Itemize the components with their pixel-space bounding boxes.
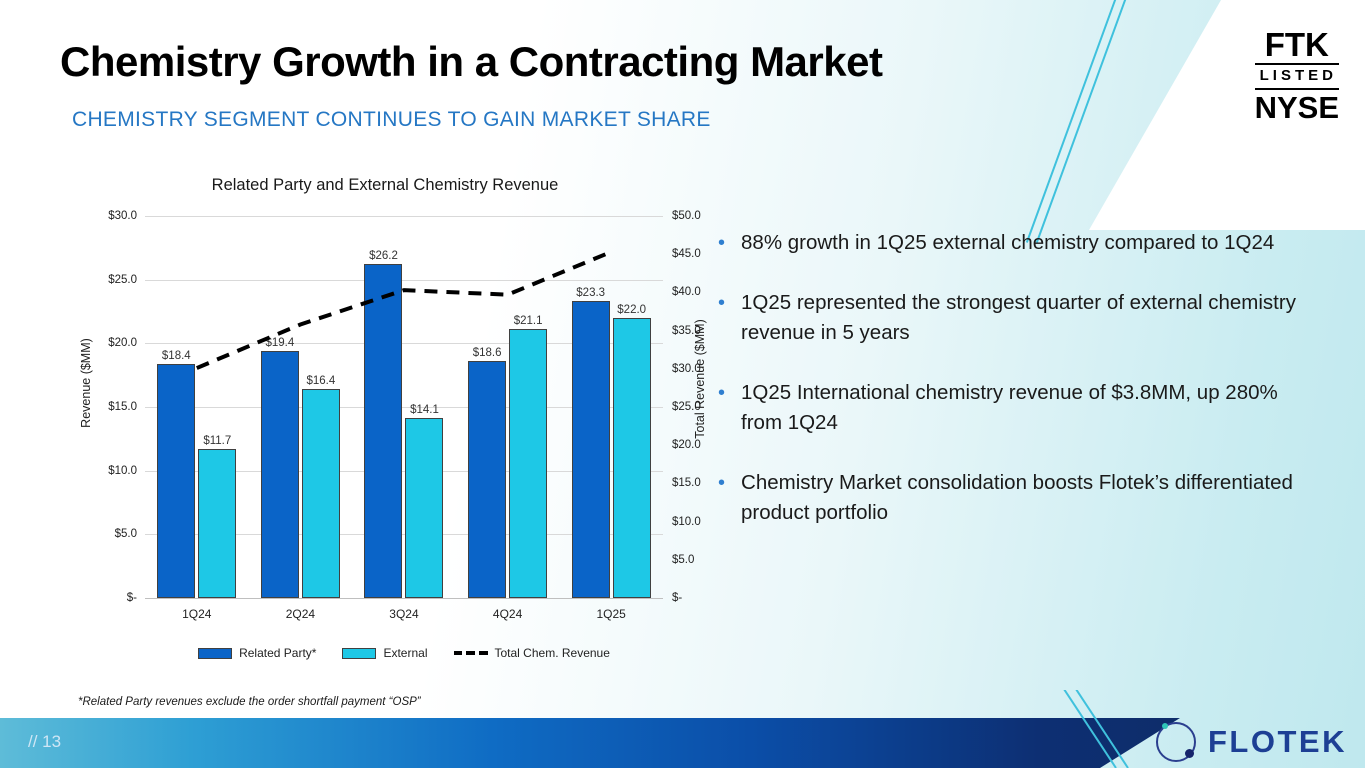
bar-value-label: $11.7 xyxy=(203,435,231,447)
chart-group: $18.6$21.14Q24 xyxy=(456,216,560,598)
legend-label: Total Chem. Revenue xyxy=(495,646,610,660)
chart-bar: $21.1 xyxy=(509,329,547,598)
nyse-listed-badge: FTK LISTED NYSE xyxy=(1255,28,1339,124)
ticker-symbol: FTK xyxy=(1255,28,1339,61)
y2-tick-label: $40.0 xyxy=(672,286,701,298)
chart-footnote: *Related Party revenues exclude the orde… xyxy=(78,696,421,708)
bar-value-label: $18.4 xyxy=(162,350,191,362)
bar-pair: $26.2$14.1 xyxy=(352,216,456,598)
chart-bar-groups: $18.4$11.71Q24$19.4$16.42Q24$26.2$14.13Q… xyxy=(145,216,663,598)
flotek-wordmark: FLOTEK xyxy=(1208,724,1347,760)
chart-bar: $19.4 xyxy=(261,351,299,598)
bar-value-label: $16.4 xyxy=(307,375,336,387)
chart-bar: $22.0 xyxy=(613,318,651,598)
legend-label: External xyxy=(383,646,427,660)
chart-plot-area: $-$5.0$10.0$15.0$20.0$25.0$30.0 $-$5.0$1… xyxy=(145,216,663,598)
y2-tick-label: $30.0 xyxy=(672,363,701,375)
flotek-ring-icon xyxy=(1156,722,1196,762)
chart-title: Related Party and External Chemistry Rev… xyxy=(55,176,715,195)
y2-tick-label: $5.0 xyxy=(672,554,694,566)
x-tick-label: 3Q24 xyxy=(352,607,456,621)
chart-bar: $11.7 xyxy=(198,449,236,598)
legend-item[interactable]: Related Party* xyxy=(198,646,316,660)
y2-tick-label: $15.0 xyxy=(672,477,701,489)
y2-tick-label: $10.0 xyxy=(672,516,701,528)
y2-tick-label: $25.0 xyxy=(672,401,701,413)
y2-tick-label: $45.0 xyxy=(672,248,701,260)
list-item-text: 1Q25 represented the strongest quarter o… xyxy=(741,288,1298,348)
chart-group: $23.3$22.01Q25 xyxy=(559,216,663,598)
y-tick-label: $5.0 xyxy=(115,528,137,540)
slide-root: Chemistry Growth in a Contracting Market… xyxy=(0,0,1365,768)
chart-bar: $16.4 xyxy=(302,389,340,598)
chart-bar: $23.3 xyxy=(572,301,610,598)
y-tick-label: $- xyxy=(127,592,137,604)
list-item-text: 88% growth in 1Q25 external chemistry co… xyxy=(741,228,1274,258)
x-tick-label: 2Q24 xyxy=(249,607,353,621)
chart-bar: $18.4 xyxy=(157,364,195,598)
bar-pair: $18.4$11.7 xyxy=(145,216,249,598)
legend-swatch xyxy=(198,648,232,659)
y2-tick-label: $35.0 xyxy=(672,325,701,337)
chemistry-revenue-chart: Related Party and External Chemistry Rev… xyxy=(55,176,715,686)
legend-label: Related Party* xyxy=(239,646,316,660)
legend-item[interactable]: Total Chem. Revenue xyxy=(454,646,610,660)
bullet-marker-icon: • xyxy=(718,228,725,258)
y-tick-label: $10.0 xyxy=(108,465,137,477)
bar-value-label: $22.0 xyxy=(617,304,646,316)
y2-tick-label: $20.0 xyxy=(672,439,701,451)
chart-bar: $18.6 xyxy=(468,361,506,598)
footer-diagonal-lines xyxy=(1040,690,1160,768)
list-item-text: Chemistry Market consolidation boosts Fl… xyxy=(741,468,1298,528)
chart-group: $26.2$14.13Q24 xyxy=(352,216,456,598)
list-item: •88% growth in 1Q25 external chemistry c… xyxy=(718,228,1298,258)
y-tick-label: $25.0 xyxy=(108,274,137,286)
y-tick-label: $30.0 xyxy=(108,210,137,222)
bar-value-label: $26.2 xyxy=(369,250,398,262)
chart-group: $18.4$11.71Q24 xyxy=(145,216,249,598)
y2-tick-label: $- xyxy=(672,592,682,604)
flotek-dot-dark xyxy=(1185,749,1194,758)
badge-divider-top xyxy=(1255,63,1339,65)
list-item: •1Q25 represented the strongest quarter … xyxy=(718,288,1298,348)
bar-value-label: $23.3 xyxy=(576,287,605,299)
y2-tick-label: $50.0 xyxy=(672,210,701,222)
chart-bar: $14.1 xyxy=(405,418,443,598)
bar-value-label: $21.1 xyxy=(514,315,543,327)
x-tick-label: 1Q24 xyxy=(145,607,249,621)
list-item: •Chemistry Market consolidation boosts F… xyxy=(718,468,1298,528)
key-points-list: •88% growth in 1Q25 external chemistry c… xyxy=(718,228,1298,558)
exchange-name: NYSE xyxy=(1255,92,1339,125)
list-item: •1Q25 International chemistry revenue of… xyxy=(718,378,1298,438)
chart-bar: $26.2 xyxy=(364,264,402,598)
bullet-marker-icon: • xyxy=(718,378,725,438)
flotek-logo: FLOTEK xyxy=(1156,722,1347,762)
chart-legend: Related Party*ExternalTotal Chem. Revenu… xyxy=(145,646,663,660)
bar-pair: $19.4$16.4 xyxy=(249,216,353,598)
bar-value-label: $19.4 xyxy=(266,337,295,349)
page-title: Chemistry Growth in a Contracting Market xyxy=(60,38,882,86)
x-tick-label: 1Q25 xyxy=(559,607,663,621)
bar-pair: $18.6$21.1 xyxy=(456,216,560,598)
chart-group: $19.4$16.42Q24 xyxy=(249,216,353,598)
legend-item[interactable]: External xyxy=(342,646,427,660)
bullet-marker-icon: • xyxy=(718,288,725,348)
page-subtitle: CHEMISTRY SEGMENT CONTINUES TO GAIN MARK… xyxy=(72,108,711,132)
page-number: // 13 xyxy=(28,732,61,752)
bullet-marker-icon: • xyxy=(718,468,725,528)
gridline xyxy=(145,598,663,599)
y-tick-label: $20.0 xyxy=(108,337,137,349)
list-item-text: 1Q25 International chemistry revenue of … xyxy=(741,378,1298,438)
y-tick-label: $15.0 xyxy=(108,401,137,413)
y-axis-title: Revenue ($MM) xyxy=(79,313,93,453)
bar-value-label: $18.6 xyxy=(473,347,502,359)
bar-pair: $23.3$22.0 xyxy=(559,216,663,598)
listed-label: LISTED xyxy=(1255,67,1339,86)
bar-value-label: $14.1 xyxy=(410,404,439,416)
slide-footer: // 13 FLOTEK xyxy=(0,718,1365,768)
legend-swatch xyxy=(342,648,376,659)
flotek-dot-teal xyxy=(1162,723,1168,729)
x-tick-label: 4Q24 xyxy=(456,607,560,621)
y2-axis-title: Total Revenue ($MM) xyxy=(693,299,707,459)
